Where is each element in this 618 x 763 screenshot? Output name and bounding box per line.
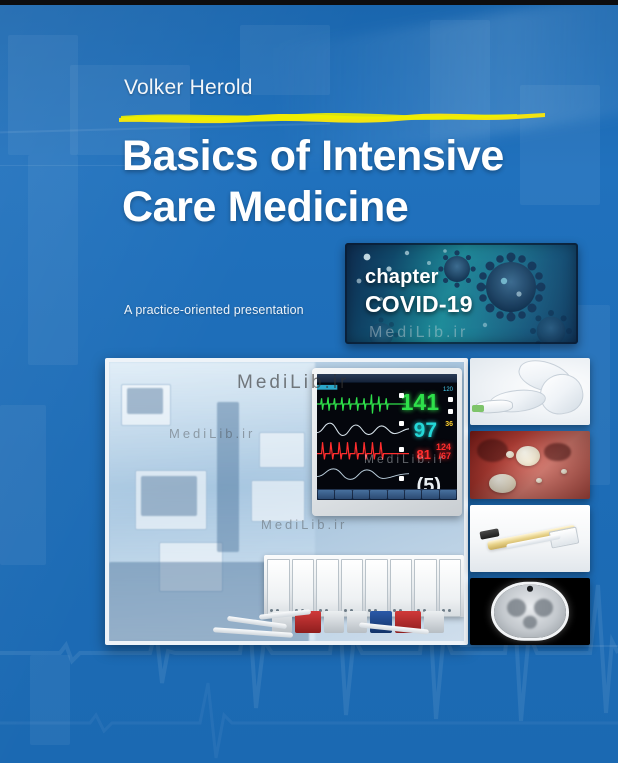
monitor-softkey[interactable] bbox=[422, 490, 438, 499]
background-ghost-shape bbox=[8, 35, 78, 155]
monitor-softkeys[interactable] bbox=[317, 489, 457, 500]
top-black-bar bbox=[0, 0, 618, 5]
heart-rate-value: 141 bbox=[401, 389, 439, 416]
endoscopy-vignette bbox=[470, 431, 590, 498]
ct-brain-structure bbox=[534, 599, 553, 617]
covid-badge-line-2: COVID-19 bbox=[365, 291, 473, 318]
monitor-softkey[interactable] bbox=[370, 490, 386, 499]
subtitle: A practice-oriented presentation bbox=[124, 303, 304, 317]
monitor-marker bbox=[399, 421, 404, 426]
ct-brain-structure bbox=[507, 599, 526, 617]
background-ghost-shape bbox=[240, 25, 330, 95]
thumbnail-ct-head-scan bbox=[470, 578, 590, 645]
monitor-corner-label: 120 bbox=[443, 387, 453, 393]
photo-watermark-primary: MediLib.ir bbox=[237, 372, 349, 394]
monitor-waveforms bbox=[317, 383, 409, 488]
icu-photo-content: 120 141 97 36 81 124 /67 (5) bbox=[109, 362, 464, 641]
monitor-marker bbox=[399, 476, 404, 481]
title-line-2: Care Medicine bbox=[122, 182, 562, 233]
covid-chapter-badge: chapter COVID-19 MediLib.ir bbox=[345, 243, 578, 344]
monitor-softkey[interactable] bbox=[440, 490, 456, 499]
thumbnail-strip bbox=[470, 358, 590, 645]
icu-ghost-device bbox=[251, 480, 305, 522]
ct-midline-marker bbox=[527, 586, 533, 591]
monitor-softkey[interactable] bbox=[405, 490, 421, 499]
covid-badge-line-1: chapter bbox=[365, 266, 473, 289]
connector-plug bbox=[324, 611, 344, 633]
icu-equipment-photo: 120 141 97 36 81 124 /67 (5) bbox=[105, 358, 468, 645]
title-line-1: Basics of Intensive bbox=[122, 131, 562, 182]
covid-badge-label: chapter COVID-19 bbox=[365, 266, 473, 318]
monitor-marker bbox=[399, 393, 404, 398]
author-name: Volker Herold bbox=[124, 76, 253, 100]
ct-head-outline bbox=[494, 585, 566, 637]
monitor-softkey[interactable] bbox=[388, 490, 404, 499]
airway-green-connector bbox=[472, 405, 484, 412]
needle-tip bbox=[479, 528, 499, 540]
book-cover: Volker Herold Basics of Intensive Care M… bbox=[0, 0, 618, 763]
thumbnail-catheter-introducer-needle bbox=[470, 505, 590, 572]
thumbnail-endoscopy-mucosa-view bbox=[470, 431, 590, 498]
spo2-value: 97 bbox=[414, 419, 437, 443]
icu-ghost-pole bbox=[217, 402, 239, 552]
icu-ghost-screen bbox=[141, 476, 197, 516]
monitor-marker bbox=[448, 409, 453, 414]
monitor-yellow-value: 36 bbox=[445, 421, 453, 428]
monitor-softkey[interactable] bbox=[353, 490, 369, 499]
monitor-softkey[interactable] bbox=[335, 490, 351, 499]
photo-watermark-quaternary: MediLib.ir bbox=[364, 452, 446, 466]
icu-ghost-screen bbox=[127, 388, 163, 414]
ct-brain-structure bbox=[523, 616, 537, 630]
page-title: Basics of Intensive Care Medicine bbox=[122, 131, 562, 232]
photo-watermark-secondary: MediLib.ir bbox=[169, 426, 255, 441]
monitor-vitals: 120 141 97 36 81 124 /67 (5) bbox=[407, 383, 455, 488]
monitor-softkey[interactable] bbox=[318, 490, 334, 499]
covid-badge-watermark: MediLib.ir bbox=[369, 324, 468, 342]
thumbnail-intubation-airway-equipment bbox=[470, 358, 590, 425]
icu-ghost-device bbox=[259, 432, 305, 468]
background-ghost-shape bbox=[28, 155, 78, 365]
monitor-marker bbox=[448, 397, 453, 402]
yellow-highlight-stroke bbox=[117, 108, 547, 125]
photo-watermark-tertiary: MediLib.ir bbox=[261, 517, 347, 532]
